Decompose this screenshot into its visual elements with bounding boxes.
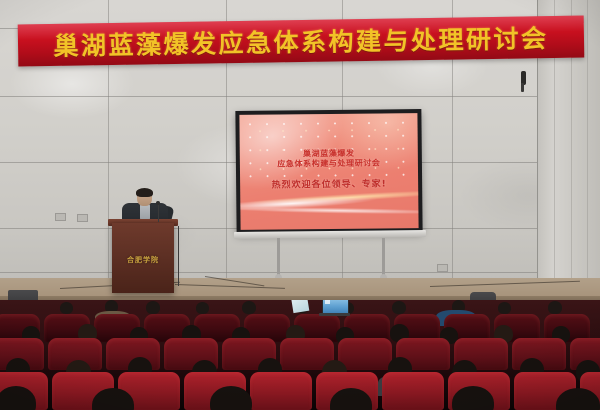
slide-title-line-2: 应急体系构建与处理研讨会 (240, 158, 418, 170)
audience-area (0, 300, 600, 410)
screen-stand-pole (382, 238, 385, 278)
microphone-head-icon (156, 201, 160, 205)
projection-screen: 巢湖蓝藻爆发 应急体系构建与处理研讨会 热烈欢迎各位领导、专家! (235, 109, 422, 234)
audience-head (242, 301, 256, 314)
audience-head (146, 301, 160, 314)
audience-head (548, 301, 562, 314)
speaker-shirt (140, 204, 150, 220)
conference-hall-photo: 巢湖蓝藻爆发应急体系构建与处理研讨会 巢湖蓝藻爆发 应急体系构建与处理研讨会 热… (0, 0, 600, 410)
theater-seat (250, 372, 312, 410)
pilaster-groove (587, 0, 588, 300)
microphone-stem (158, 204, 159, 222)
screen-stand-pole (277, 238, 280, 278)
audience-head (196, 302, 209, 314)
audience-head (60, 302, 73, 314)
microphone-stand (178, 226, 179, 286)
podium-label: 合肥学院 (112, 255, 174, 265)
podium: 合肥学院 (112, 223, 174, 293)
wall-outlet-plate (55, 213, 66, 221)
speaker-hair (136, 188, 153, 197)
slide-ribbon-decoration (239, 198, 418, 224)
event-banner: 巢湖蓝藻爆发应急体系构建与处理研讨会 (18, 16, 585, 67)
laptop-base (319, 313, 350, 316)
wall-grout-line (0, 96, 600, 97)
audience-head (498, 302, 511, 314)
event-banner-text: 巢湖蓝藻爆发应急体系构建与处理研讨会 (53, 19, 549, 63)
projected-slide: 巢湖蓝藻爆发 应急体系构建与处理研讨会 热烈欢迎各位领导、专家! (239, 113, 418, 230)
wall-outlet-plate (77, 214, 88, 222)
audience-head (392, 301, 406, 314)
wall-mounted-fixture-icon (521, 71, 526, 85)
theater-seat (338, 338, 392, 370)
wall-outlet-plate (437, 264, 448, 272)
laptop-window-icon (325, 300, 330, 304)
wall-grout-line (0, 272, 600, 273)
theater-seat (382, 372, 444, 410)
slide-title: 巢湖蓝藻爆发 应急体系构建与处理研讨会 (240, 148, 418, 170)
